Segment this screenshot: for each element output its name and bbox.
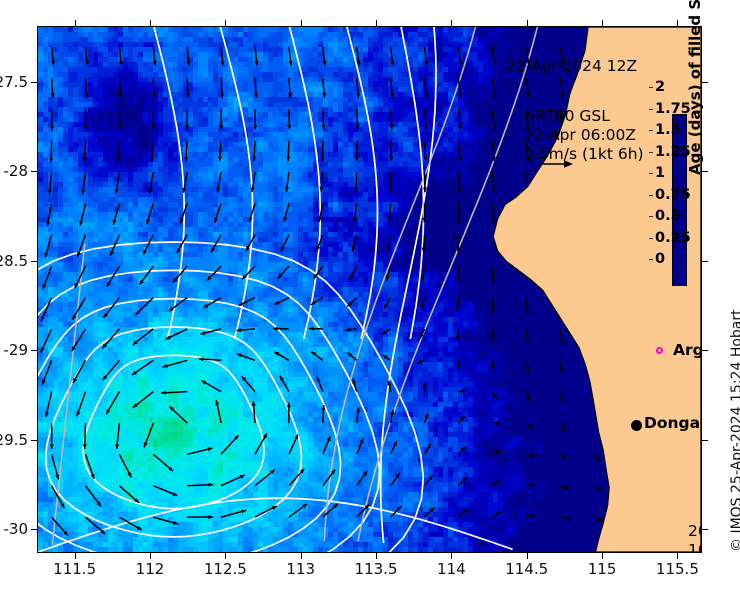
- x-tick-top: [527, 20, 528, 26]
- dongara-city-label: Dongara: [644, 414, 702, 432]
- x-tick-top: [451, 20, 452, 26]
- x-tick-label: 113: [286, 560, 315, 578]
- colorbar-tick-label: 0.25: [655, 230, 691, 246]
- y-tick-label: -28: [4, 162, 29, 180]
- colorbar-tick: [649, 109, 653, 110]
- colorbar-tick: [649, 87, 653, 88]
- x-tick-label: 114.5: [505, 560, 548, 578]
- y-tick: [31, 82, 37, 83]
- x-tick: [451, 553, 452, 559]
- x-tick: [677, 553, 678, 559]
- depth-label-200m: 200m: [688, 522, 702, 541]
- date-annotation: 22-Apr-2024 12Z: [506, 57, 637, 75]
- y-tick: [31, 171, 37, 172]
- x-tick-label: 112: [136, 560, 165, 578]
- y-tick-right: [702, 529, 708, 530]
- x-tick: [75, 553, 76, 559]
- x-tick-top: [376, 20, 377, 26]
- x-tick-label: 111.5: [53, 560, 96, 578]
- colorbar-tick-label: 0.75: [655, 187, 691, 203]
- colorbar-tick: [649, 238, 653, 239]
- depth-scale-legend: 200m 1000m: [688, 522, 702, 553]
- colorbar-tick: [649, 216, 653, 217]
- y-tick: [31, 529, 37, 530]
- y-tick-label: -28.5: [0, 252, 28, 270]
- x-tick-label: 112.5: [204, 560, 247, 578]
- x-tick-top: [677, 20, 678, 26]
- colorbar-title: Age (days) of filled SST (wrt latest): [686, 0, 704, 175]
- product-annotation: NRT00 GSL 22-Apr 06:00Z 0.5m/s (1kt 6h): [524, 107, 644, 164]
- colorbar-tick-label: 0: [655, 251, 665, 267]
- x-tick-top: [225, 20, 226, 26]
- figure-canvas: 22-Apr-2024 12Z NRT00 GSL 22-Apr 06:00Z …: [0, 0, 740, 592]
- colorbar-tick: [649, 259, 653, 260]
- y-tick: [31, 350, 37, 351]
- y-tick: [31, 440, 37, 441]
- argo-legend-label: Argo: [673, 341, 702, 359]
- x-tick-top: [602, 20, 603, 26]
- vector-scale-arrow-icon: [536, 157, 574, 171]
- x-tick-label: 114: [437, 560, 466, 578]
- colorbar-tick: [649, 130, 653, 131]
- x-tick-top: [150, 20, 151, 26]
- x-tick-top: [301, 20, 302, 26]
- y-tick-right: [702, 440, 708, 441]
- y-tick-label: -29.5: [0, 431, 28, 449]
- x-tick: [150, 553, 151, 559]
- x-tick: [527, 553, 528, 559]
- x-tick: [376, 553, 377, 559]
- y-tick-label: -30: [4, 520, 29, 538]
- colorbar-tick-label: 1.5: [655, 122, 681, 138]
- colorbar-tick: [649, 195, 653, 196]
- colorbar-tick-label: 1: [655, 165, 665, 181]
- coastline-and-land: [38, 27, 701, 552]
- x-tick: [602, 553, 603, 559]
- y-tick-label: -29: [4, 341, 29, 359]
- dongara-marker-icon: [631, 420, 642, 431]
- colorbar-tick: [649, 152, 653, 153]
- colorbar-tick: [649, 173, 653, 174]
- x-tick-label: 113.5: [355, 560, 398, 578]
- y-tick: [31, 261, 37, 262]
- map-plot-area[interactable]: 22-Apr-2024 12Z NRT00 GSL 22-Apr 06:00Z …: [37, 26, 702, 553]
- y-tick-right: [702, 261, 708, 262]
- x-tick-label: 115.5: [656, 560, 699, 578]
- depth-label-1000m: 1000m: [688, 541, 702, 553]
- x-tick-label: 115: [588, 560, 617, 578]
- colorbar-tick-label: 2: [655, 79, 665, 95]
- argo-marker-icon: [656, 347, 663, 354]
- y-tick-label: -27.5: [0, 73, 28, 91]
- y-tick-right: [702, 350, 708, 351]
- copyright-text: © IMOS 25-Apr-2024 15:24 Hobart: [729, 309, 740, 552]
- colorbar-tick-label: 0.5: [655, 208, 681, 224]
- x-tick-top: [75, 20, 76, 26]
- x-tick: [301, 553, 302, 559]
- x-tick: [225, 553, 226, 559]
